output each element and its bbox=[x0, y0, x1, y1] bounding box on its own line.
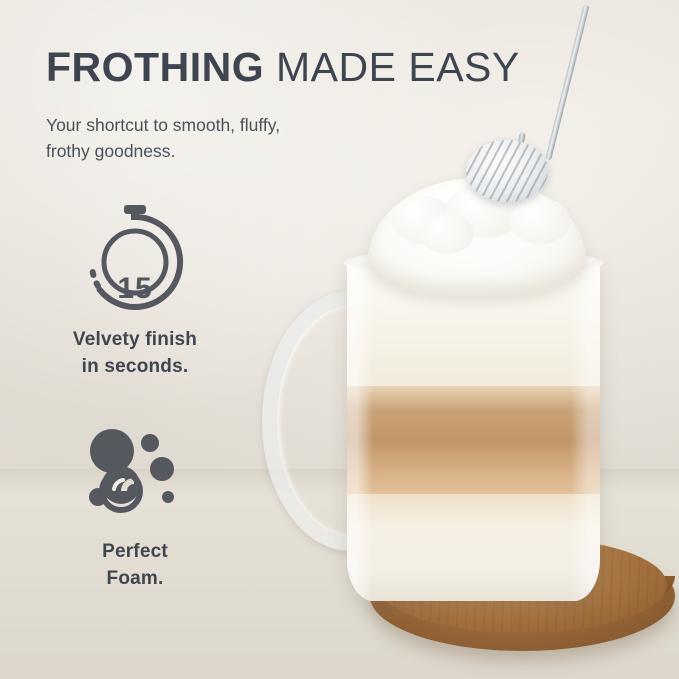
drink-layer-espresso bbox=[347, 386, 600, 440]
subheadline: Your shortcut to smooth, fluffy, frothy … bbox=[46, 112, 406, 164]
frother-shaft bbox=[512, 132, 526, 170]
timer-value: 15 bbox=[44, 272, 226, 306]
foam-bubble bbox=[392, 196, 454, 244]
page-title: FROTHING MADE EASY bbox=[46, 44, 646, 90]
mug-rim bbox=[344, 248, 603, 278]
foam-bubbles-icon bbox=[44, 420, 226, 538]
foam-bubble bbox=[510, 198, 570, 244]
foam-bubble bbox=[420, 214, 474, 254]
feature-perfect-foam: Perfect Foam. bbox=[44, 420, 226, 592]
whisk-coil-icon bbox=[466, 140, 548, 202]
milk-foam-dome bbox=[368, 178, 586, 296]
promo-image: FROTHING MADE EASY Your shortcut to smoo… bbox=[0, 0, 679, 679]
stopwatch-15-seconds-icon: 15 bbox=[44, 198, 226, 326]
feature-label-velvety-finish: Velvety finish in seconds. bbox=[44, 326, 226, 380]
headline-bold: FROTHING bbox=[46, 44, 264, 90]
drink-layer-steamed-milk bbox=[347, 258, 600, 386]
frother-whisk-head bbox=[466, 140, 548, 202]
foam-bubble bbox=[446, 182, 524, 238]
feature-velvety-finish: 15 Velvety finish in seconds. bbox=[44, 198, 226, 380]
headline-light: MADE EASY bbox=[276, 44, 520, 90]
feature-label-perfect-foam: Perfect Foam. bbox=[44, 538, 226, 592]
